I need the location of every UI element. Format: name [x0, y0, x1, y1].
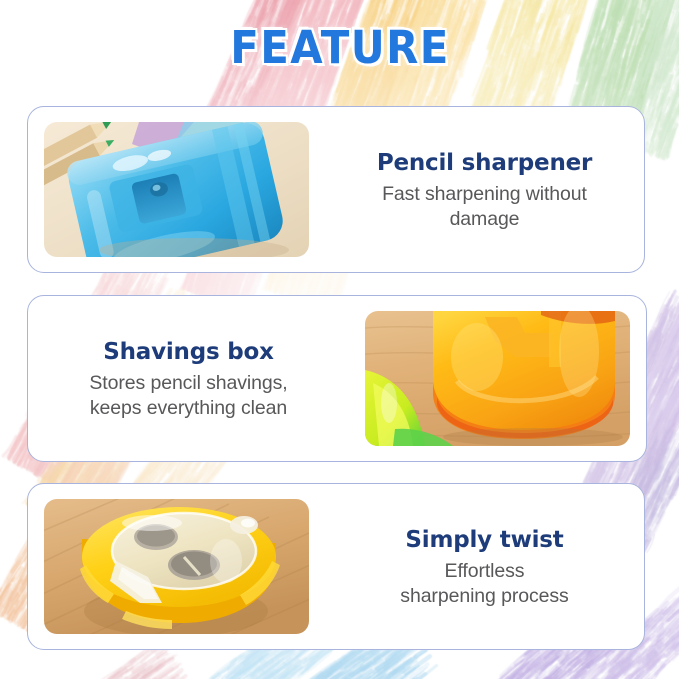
feature-title: Simply twist: [331, 524, 638, 556]
feature-card-simply-twist[interactable]: Simply twist Effortless sharpening proce…: [27, 483, 645, 650]
feature-text-pencil-sharpener: Pencil sharpener Fast sharpening without…: [325, 147, 644, 232]
feature-text-simply-twist: Simply twist Effortless sharpening proce…: [325, 524, 644, 609]
feature-card-pencil-sharpener[interactable]: Pencil sharpener Fast sharpening without…: [27, 106, 645, 273]
feature-description: Effortless sharpening process: [331, 559, 638, 609]
feature-card-shavings-box[interactable]: Shavings box Stores pencil shavings, kee…: [27, 295, 647, 462]
feature-description: Fast sharpening without damage: [331, 182, 638, 232]
page-title-container: FEATURE: [0, 22, 679, 74]
feature-text-shavings-box: Shavings box Stores pencil shavings, kee…: [28, 336, 349, 421]
page-title: FEATURE: [230, 22, 449, 74]
feature-photo-pencil-sharpener: [44, 122, 309, 257]
feature-photo-shavings-box: [365, 311, 630, 446]
feature-photo-simply-twist: [44, 499, 309, 634]
feature-title: Shavings box: [34, 336, 343, 368]
feature-title: Pencil sharpener: [331, 147, 638, 179]
feature-description: Stores pencil shavings, keeps everything…: [34, 371, 343, 421]
feature-page: FEATURE: [0, 0, 679, 679]
